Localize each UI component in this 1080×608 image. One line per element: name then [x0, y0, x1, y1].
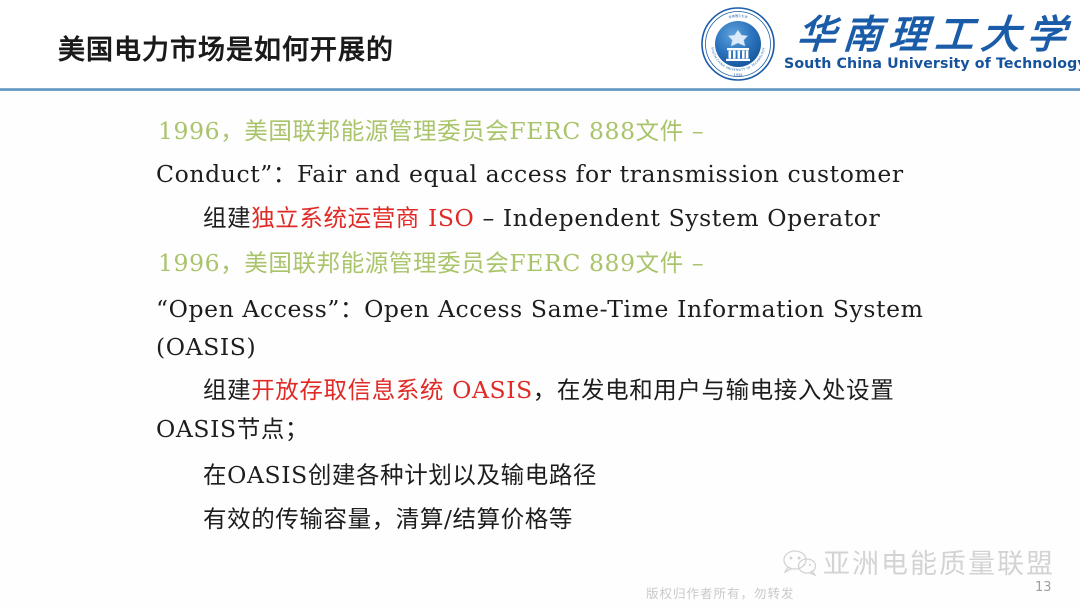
line7-suffix: ，在发电和用户与输电接入处设置	[533, 376, 895, 404]
line8-black-text: OASIS节点；	[156, 415, 309, 443]
line5-black-text: “Open Access”：Open Access Same-Time Info…	[156, 295, 924, 323]
content-line-4: 1996，美国联邦能源管理委员会FERC 889文件 –	[158, 252, 704, 276]
content-line-5: “Open Access”：Open Access Same-Time Info…	[156, 298, 924, 322]
content-line-7: 组建开放存取信息系统 OASIS，在发电和用户与输电接入处设置	[203, 379, 894, 403]
content-line-8: OASIS节点；	[156, 418, 309, 442]
line2-black-text: Conduct”：Fair and equal access for trans…	[156, 160, 904, 188]
wechat-account-name: 亚洲电能质量联盟	[823, 542, 1055, 581]
copyright-notice: 版权归作者所有，勿转发	[646, 583, 795, 602]
logo-chinese-name: 华南理工大学	[796, 16, 1075, 56]
content-line-2: Conduct”：Fair and equal access for trans…	[156, 163, 904, 187]
header-divider	[0, 88, 1080, 91]
content-line-10: 有效的传输容量，清算/结算价格等	[203, 508, 573, 532]
content-line-9: 在OASIS创建各种计划以及输电路径	[203, 464, 597, 488]
line7-red-term: 开放存取信息系统 OASIS	[251, 376, 533, 404]
line9-black-text: 在OASIS创建各种计划以及输电路径	[203, 461, 597, 489]
line3-red-term: 独立系统运营商 ISO	[251, 204, 474, 232]
content-line-1: 1996，美国联邦能源管理委员会FERC 888文件 –	[158, 120, 704, 144]
line10-black-text: 有效的传输容量，清算/结算价格等	[203, 505, 573, 533]
logo-english-name: South China University of Technology	[784, 56, 1080, 72]
line4-green-text: 1996，美国联邦能源管理委员会FERC 889文件 –	[158, 249, 704, 277]
content-line-6: (OASIS)	[156, 336, 256, 360]
page-title: 美国电力市场是如何开展的	[58, 28, 394, 67]
university-logo: 华南理工大学 SOUTH CHINA UNIVERSITY OF TECHNOL…	[700, 4, 1072, 84]
wechat-watermark: 亚洲电能质量联盟	[780, 542, 1055, 581]
line6-black-text: (OASIS)	[156, 333, 256, 361]
line7-prefix: 组建	[203, 376, 251, 404]
page-number: 13	[1035, 580, 1052, 595]
scut-seal-emblem-icon: 华南理工大学 SOUTH CHINA UNIVERSITY OF TECHNOL…	[700, 6, 776, 82]
logo-wordmark: 华南理工大学 South China University of Technol…	[784, 16, 1080, 73]
line3-prefix: 组建	[203, 204, 251, 232]
wechat-icon	[780, 547, 820, 577]
content-line-3: 组建独立系统运营商 ISO – Independent System Opera…	[203, 207, 880, 231]
line1-green-text: 1996，美国联邦能源管理委员会FERC 888文件 –	[158, 117, 704, 145]
slide-header: 美国电力市场是如何开展的	[0, 0, 1080, 92]
svg-text:1934: 1934	[734, 73, 743, 77]
line3-suffix: – Independent System Operator	[474, 204, 880, 232]
